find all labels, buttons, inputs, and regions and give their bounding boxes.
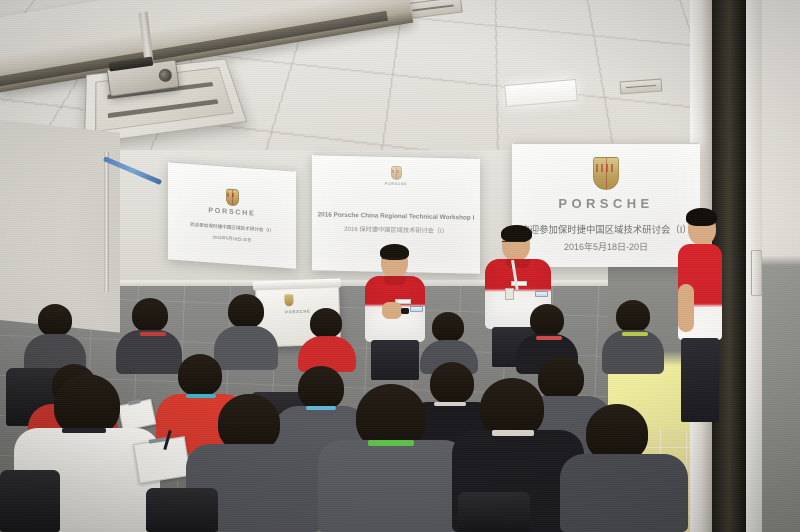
- attendee-head: [54, 374, 120, 436]
- projector-lens-icon: [158, 68, 173, 83]
- porsche-crest-icon: [391, 166, 402, 180]
- hair: [686, 208, 717, 226]
- chair-back: [0, 470, 60, 532]
- screen-headline-cn: 欢迎参加保时捷中国区域技术研讨会（I）: [190, 221, 274, 233]
- attendee-head: [616, 300, 650, 332]
- screen-headline-en: 2016 Porsche China Regional Technical Wo…: [318, 211, 475, 223]
- attendee-head: [132, 298, 168, 332]
- porsche-crest-icon: [593, 157, 619, 190]
- door-hinge: [751, 250, 762, 296]
- corner-conduit-pipe: [104, 152, 109, 292]
- attendee-head: [228, 294, 264, 328]
- glasses-icon: [382, 258, 406, 262]
- name-badge: [511, 281, 527, 286]
- glasses-icon: [502, 241, 526, 245]
- far-right-wall: [762, 0, 800, 532]
- audience-front-row: [0, 360, 700, 532]
- screen-date-cn: 2016年5月18日-20日: [564, 241, 648, 253]
- screen-wordmark: PORSCHE: [558, 197, 653, 210]
- chair-back: [146, 488, 218, 532]
- left-projection-screen: PORSCHE 欢迎参加保时捷中国区域技术研讨会（I） 2016年5月18日-2…: [168, 161, 296, 268]
- chair-back: [458, 492, 530, 532]
- screen-headline-cn: 2016 保时捷中国区域技术研讨会（I）: [344, 225, 448, 236]
- screen-date-cn: 2016年5月18日-20日: [212, 234, 251, 243]
- attendee-body: [560, 454, 688, 532]
- classroom-photo: PORSCHE 欢迎参加保时捷中国区域技术研讨会（I） 2016年5月18日-2…: [0, 0, 800, 532]
- attendee-body: [318, 440, 468, 532]
- screen-wordmark: PORSCHE: [208, 207, 255, 217]
- lanyard: [368, 440, 414, 446]
- clipboard: [133, 436, 191, 484]
- lanyard: [62, 428, 106, 433]
- attendee-head: [480, 378, 544, 438]
- lanyard: [492, 430, 534, 436]
- screen-wordmark: PORSCHE: [385, 183, 407, 187]
- hair: [501, 225, 532, 242]
- porsche-crest-icon: [226, 188, 239, 206]
